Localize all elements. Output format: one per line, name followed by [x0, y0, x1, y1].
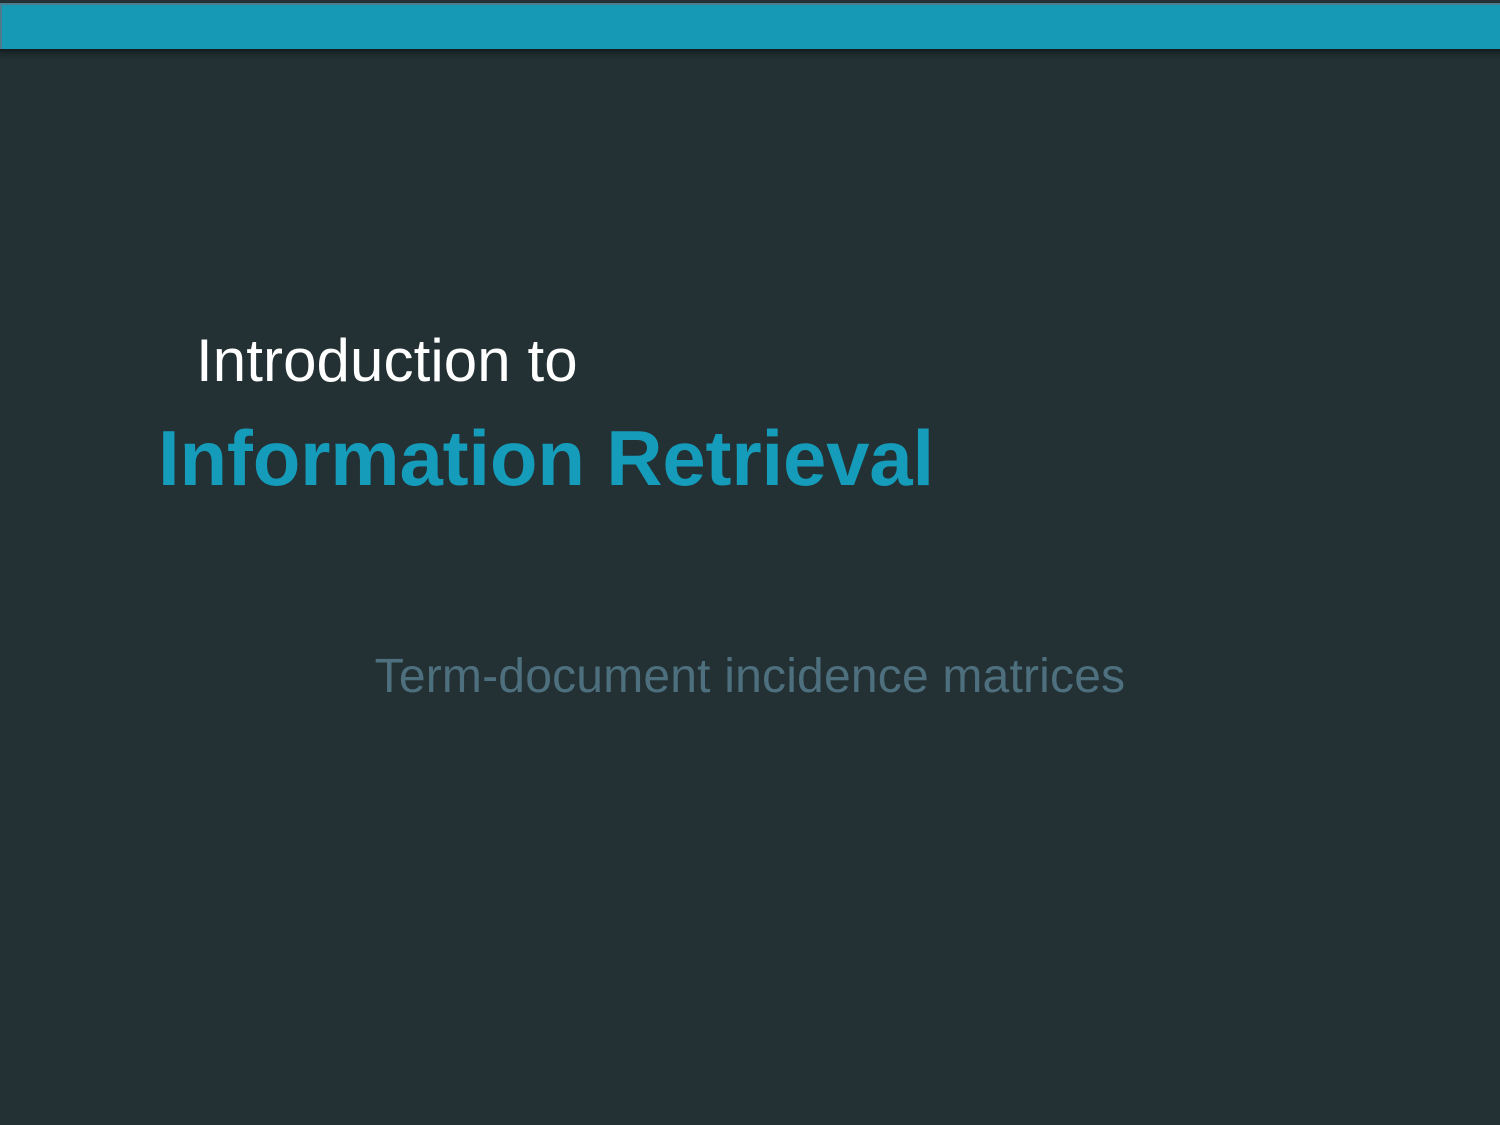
accent-bar-shadow [0, 49, 1500, 59]
subtitle-block: Term-document incidence matrices [0, 648, 1500, 706]
title-slide: Introduction to Information Retrieval Te… [0, 0, 1500, 1125]
title-block: Introduction to Information Retrieval [0, 326, 1500, 502]
slide-subtitle: Term-document incidence matrices [0, 648, 1500, 706]
title-line-primary: Introduction to [0, 326, 1500, 397]
top-accent-bar [0, 3, 1500, 49]
title-line-emphasis: Information Retrieval [0, 397, 1500, 502]
